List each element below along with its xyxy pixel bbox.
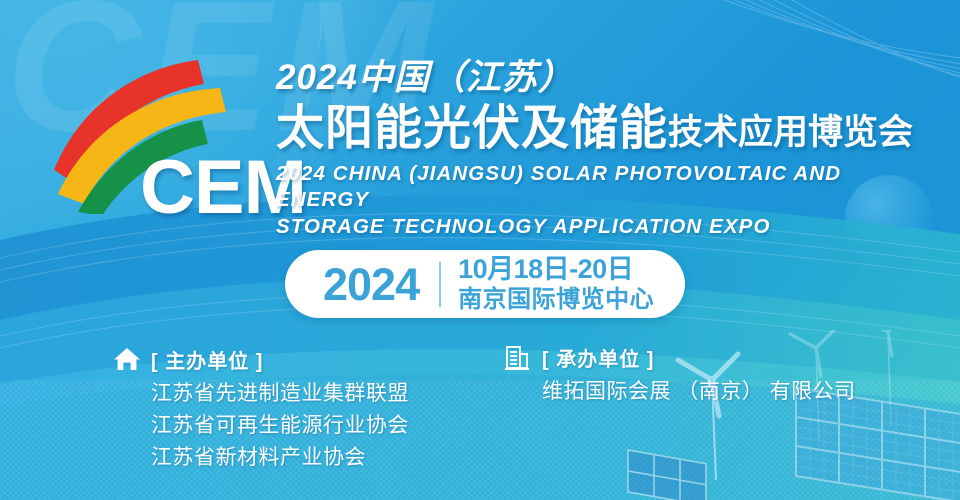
headline-english: 2024 CHINA (JIANGSU) SOLAR PHOTOVOLTAIC …	[276, 161, 936, 241]
co-organizer-list: 维拓国际会展 （南京） 有限公司	[503, 376, 856, 408]
headline-block: 2024中国（江苏） 太阳能光伏及储能技术应用博览会 2024 CHINA (J…	[276, 58, 936, 241]
pill-venue: 南京国际博览中心	[458, 286, 654, 314]
home-icon	[112, 344, 142, 374]
host-organizer-title: [ 主办单位 ]	[151, 345, 263, 374]
host-organizer-header: [ 主办单位 ]	[112, 344, 409, 374]
expo-banner: CEM	[0, 0, 960, 500]
co-organizer-header: [ 承办单位 ]	[503, 342, 856, 372]
headline-english-line-1: 2024 CHINA (JIANGSU) SOLAR PHOTOVOLTAIC …	[276, 161, 936, 214]
host-organizer-item: 江苏省先进制造业集群联盟	[151, 378, 409, 410]
date-venue-pill: 2024 10月18日-20日 南京国际博览中心	[285, 250, 685, 318]
pill-year: 2024	[323, 262, 419, 307]
pill-details: 10月18日-20日 南京国际博览中心	[458, 254, 654, 313]
host-organizer-item: 江苏省可再生能源行业协会	[151, 410, 409, 442]
pill-divider	[439, 262, 441, 307]
co-organizer-title: [ 承办单位 ]	[542, 343, 654, 372]
headline-english-line-2: STORAGE TECHNOLOGY APPLICATION EXPO	[276, 214, 936, 241]
cem-logo: CEM	[44, 54, 274, 214]
host-organizer-block: [ 主办单位 ] 江苏省先进制造业集群联盟 江苏省可再生能源行业协会 江苏省新材…	[112, 344, 409, 474]
co-organizer-block: [ 承办单位 ] 维拓国际会展 （南京） 有限公司	[503, 342, 856, 408]
headline-line-2-main: 太阳能光伏及储能	[276, 102, 668, 155]
pill-date: 10月18日-20日	[458, 254, 654, 285]
headline-line-2: 太阳能光伏及储能技术应用博览会	[276, 102, 936, 156]
co-organizer-item: 维拓国际会展 （南京） 有限公司	[542, 376, 856, 408]
headline-line-2-sub: 技术应用博览会	[668, 113, 913, 152]
host-organizer-item: 江苏省新材料产业协会	[151, 442, 409, 474]
building-icon	[503, 342, 533, 372]
host-organizer-list: 江苏省先进制造业集群联盟 江苏省可再生能源行业协会 江苏省新材料产业协会	[112, 378, 409, 474]
headline-line-1: 2024中国（江苏）	[276, 58, 936, 98]
